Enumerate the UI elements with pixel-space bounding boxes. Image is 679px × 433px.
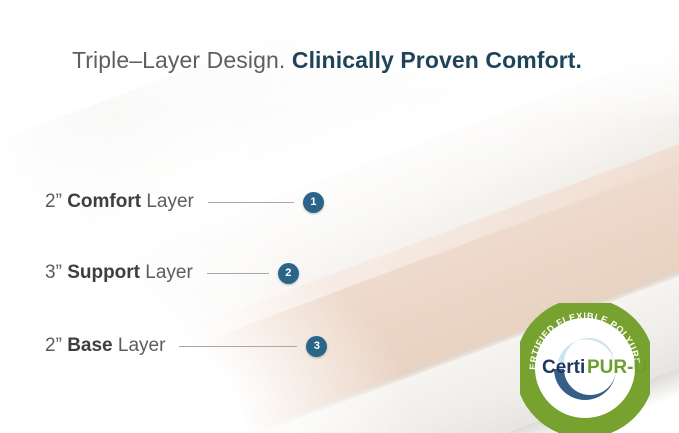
seal-registered-mark: ® [635,358,641,366]
seal-wordmark-pur-us: PUR-US [587,357,650,378]
callout-base-name: Base [67,335,112,356]
callout-base-suffix: Layer [118,335,166,356]
callout-support-layer: 3” Support Layer 2 [45,262,299,284]
headline-light-text: Triple–Layer Design. [72,47,285,73]
callout-comfort-leader-line [208,202,294,203]
callout-base-leader-line [179,346,297,347]
callout-support-leader-line [207,273,269,274]
callout-support-label: 3” Support Layer [45,262,193,284]
callout-base-badge: 3 [306,336,327,357]
callout-base-label: 2” Base Layer [45,335,165,357]
callout-comfort-label: 2” Comfort Layer [45,191,194,213]
callout-support-thickness: 3” [45,262,62,283]
callout-support-badge: 2 [278,263,299,284]
headline: Triple–Layer Design. Clinically Proven C… [72,47,582,74]
callout-base-layer: 2” Base Layer 3 [45,335,327,357]
callout-comfort-suffix: Layer [146,191,194,212]
seal-wordmark-certi: Certi [542,357,585,378]
callout-comfort-badge: 1 [303,192,324,213]
certipur-us-seal: CONTAINS CERTIFIED FLEXIBLE POLYURETHANE… [520,303,650,433]
callout-comfort-thickness: 2” [45,191,62,212]
callout-support-suffix: Layer [145,262,193,283]
headline-bold-text: Clinically Proven Comfort. [292,47,582,73]
callout-comfort-name: Comfort [67,191,141,212]
product-image: Triple–Layer Design. Clinically Proven C… [0,0,679,433]
callout-support-name: Support [67,262,140,283]
callout-comfort-layer: 2” Comfort Layer 1 [45,191,324,213]
callout-base-thickness: 2” [45,335,62,356]
